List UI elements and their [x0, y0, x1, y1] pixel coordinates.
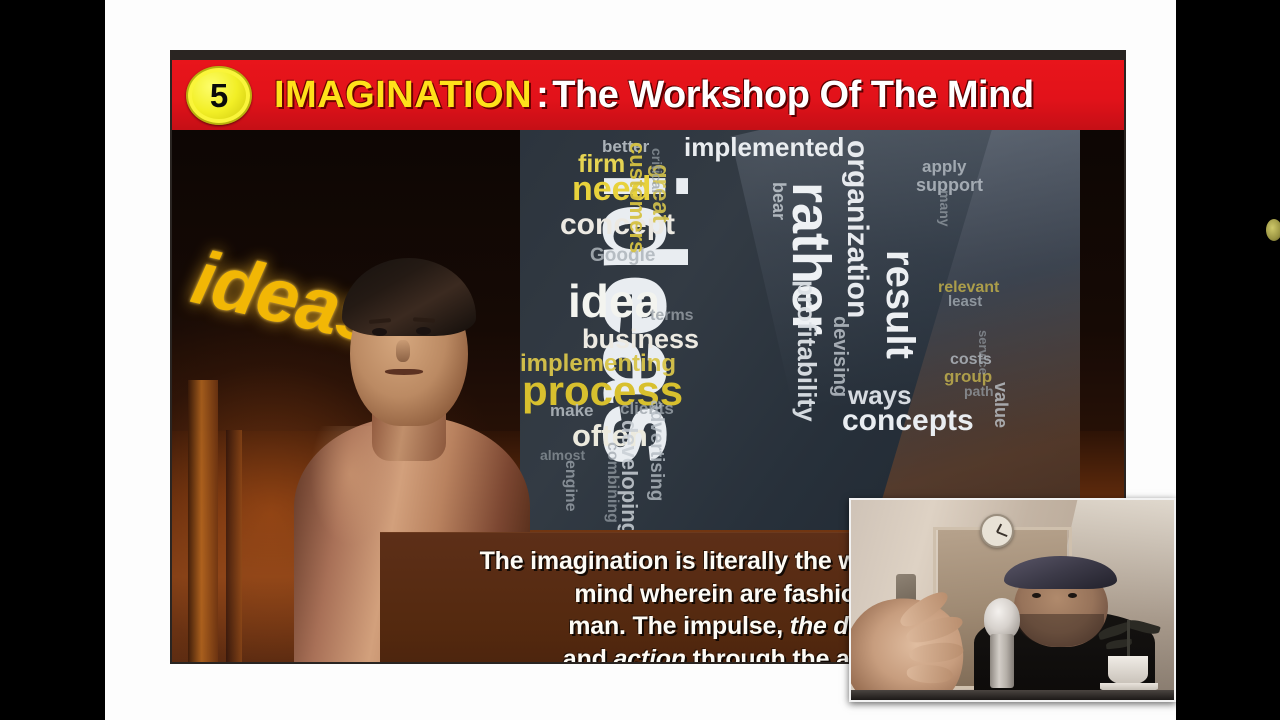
caption-emphasis: action	[613, 645, 685, 665]
word-cloud-word: many	[938, 190, 952, 227]
hand-finger	[908, 640, 964, 665]
slide-title: IMAGINATION:The Workshop Of The Mind	[274, 76, 1034, 114]
screen: 5 IMAGINATION:The Workshop Of The Mind i…	[0, 0, 1280, 720]
artwork-pillar-second	[226, 430, 242, 664]
word-cloud-word: concepts	[842, 406, 974, 436]
word-cloud-word: terms	[650, 308, 694, 324]
word-cloud-word: engine	[562, 460, 578, 512]
baseball-cap	[1004, 556, 1116, 589]
caption-text: and	[563, 645, 614, 665]
condenser-microphone	[983, 598, 1021, 686]
caption-text: man. The impulse,	[568, 612, 789, 640]
wall-clock-icon	[980, 514, 1014, 548]
letterbox-bar-right	[1176, 0, 1280, 720]
slide-title-keyword: IMAGINATION	[274, 74, 532, 116]
speaker-eye-left	[1032, 593, 1041, 598]
word-cloud-word: value	[992, 382, 1010, 428]
word-cloud-word: implementing	[520, 352, 676, 376]
word-cloud-word: critical	[650, 148, 664, 193]
word-cloud-word: customers	[626, 142, 648, 253]
word-cloud-word: path	[964, 384, 994, 398]
desk-edge	[851, 690, 1174, 700]
word-cloud-word: business	[582, 326, 699, 353]
word-cloud-word: bear	[770, 182, 788, 220]
plant-pot	[1108, 656, 1148, 684]
screen-edge-artifact-dot	[1266, 219, 1280, 241]
speaker-eye-right	[1068, 593, 1077, 598]
potted-plant	[1092, 600, 1164, 692]
slide-title-banner: 5 IMAGINATION:The Workshop Of The Mind	[172, 60, 1124, 130]
hand-finger	[906, 664, 953, 684]
character-hair	[342, 258, 476, 336]
character-mouth	[385, 369, 423, 375]
word-cloud-word: organization	[842, 140, 872, 318]
artwork-pillar	[188, 380, 218, 664]
webcam-overlay[interactable]	[849, 498, 1176, 702]
word-cloud-word: advertising	[647, 400, 666, 501]
word-cloud-word: combining	[604, 442, 620, 523]
letterbox-bar-left	[0, 0, 105, 720]
character-eye-left	[372, 328, 387, 336]
word-cloud-word: make	[550, 402, 593, 419]
word-cloud-word: devising	[830, 316, 850, 397]
character-eye-right	[416, 327, 431, 335]
microphone-body	[990, 634, 1014, 688]
word-cloud-word: profitability	[794, 280, 820, 422]
word-cloud-panel: ideasideaprocessratherneedconceptbusines…	[520, 130, 1080, 530]
word-cloud-word: implemented	[684, 134, 844, 160]
slide-number-badge: 5	[186, 66, 252, 125]
slide-title-subtitle: The Workshop Of The Mind	[552, 74, 1033, 116]
word-cloud-word: least	[948, 294, 982, 309]
word-cloud-word: result	[880, 250, 920, 359]
plant-leaf	[1126, 618, 1161, 637]
word-cloud-word: idea	[568, 278, 660, 324]
slide-title-separator: :	[532, 74, 552, 116]
word-cloud-word: developing	[618, 420, 640, 530]
plant-stem	[1127, 620, 1130, 660]
slide-number-label: 5	[210, 79, 228, 112]
word-cloud-word: service	[977, 330, 990, 375]
character-nose	[396, 340, 410, 362]
word-cloud-word: apply	[922, 158, 966, 175]
